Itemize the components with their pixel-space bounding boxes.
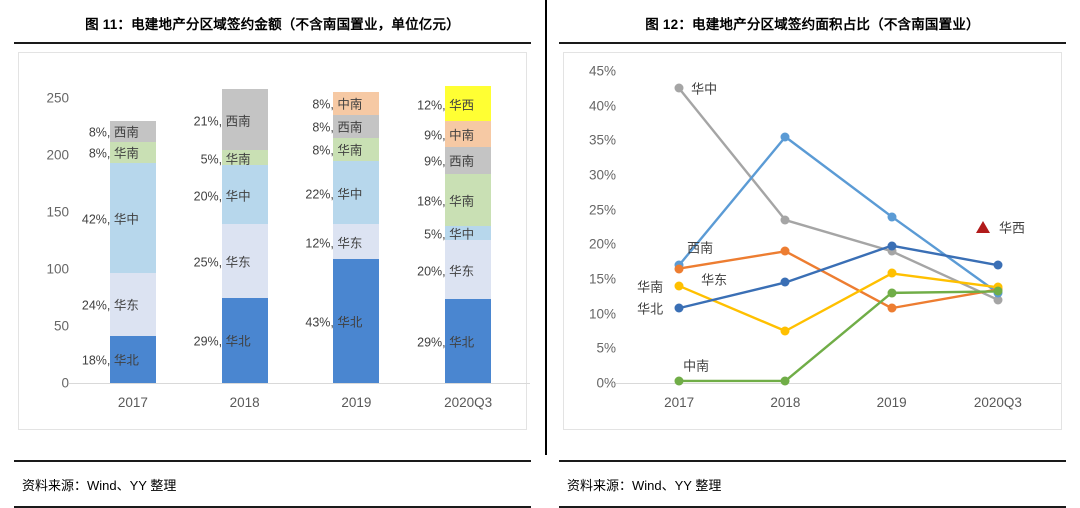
bar-segment-label: 8%, 西南 bbox=[312, 117, 362, 136]
bar-y-tick-label: 0 bbox=[29, 376, 69, 391]
bar-x-tick-label: 2018 bbox=[230, 395, 260, 410]
line-x-tick-label: 2017 bbox=[664, 395, 694, 410]
line-point-华北 bbox=[887, 241, 896, 250]
line-x-tick-label: 2020Q3 bbox=[974, 395, 1022, 410]
triangle-icon bbox=[976, 221, 990, 233]
line-point-西南 bbox=[781, 132, 790, 141]
bar-segment-label: 9%, 中南 bbox=[424, 125, 474, 144]
bar-segment-label: 24%, 华东 bbox=[82, 295, 139, 314]
bar-segment-label: 29%, 华北 bbox=[417, 331, 474, 350]
figure-12-panel: 图 12：电建地产分区域签约面积占比（不含南国置业） 0%5%10%15%20%… bbox=[545, 0, 1080, 502]
bar-segment-label: 12%, 华东 bbox=[305, 232, 362, 251]
figure-11-chart: 05010015020025018%, 华北24%, 华东42%, 华中8%, … bbox=[18, 52, 527, 430]
figure-12-source: 资料来源：Wind、YY 整理 bbox=[553, 462, 1072, 506]
bar-segment-label: 20%, 华东 bbox=[417, 260, 474, 279]
line-point-华北 bbox=[993, 261, 1002, 270]
bar-segment-label: 42%, 华中 bbox=[82, 208, 139, 227]
line-point-华南 bbox=[781, 327, 790, 336]
bar-x-tick-label: 2019 bbox=[341, 395, 371, 410]
figure-12-title: 图 12：电建地产分区域签约面积占比（不含南国置业） bbox=[553, 0, 1072, 42]
bar-segment-label: 29%, 华北 bbox=[194, 331, 251, 350]
bar-x-tick-label: 2017 bbox=[118, 395, 148, 410]
line-chart-plot-area: 0%5%10%15%20%25%30%35%40%45%华中西南华东华南华北中南… bbox=[564, 53, 1061, 429]
line-path-华中 bbox=[679, 88, 998, 299]
bar-segment-label: 5%, 华南 bbox=[201, 148, 251, 167]
figure-11-source: 资料来源：Wind、YY 整理 bbox=[8, 462, 537, 506]
line-series-label-华东: 华东 bbox=[701, 269, 727, 288]
line-x-tick-label: 2018 bbox=[770, 395, 800, 410]
line-point-中南 bbox=[993, 287, 1002, 296]
figure-12-chart: 0%5%10%15%20%25%30%35%40%45%华中西南华东华南华北中南… bbox=[563, 52, 1062, 430]
line-series-label-华北: 华北 bbox=[637, 299, 663, 318]
bar-y-tick-label: 100 bbox=[29, 261, 69, 276]
bar-segment-label: 22%, 华中 bbox=[305, 183, 362, 202]
line-point-华中 bbox=[675, 84, 684, 93]
figure-11-title-rule bbox=[14, 42, 531, 44]
line-point-华东 bbox=[887, 304, 896, 313]
figure-12-title-rule bbox=[559, 42, 1066, 44]
bar-segment-label: 8%, 华南 bbox=[89, 143, 139, 162]
bar-segment-label: 12%, 华西 bbox=[417, 94, 474, 113]
line-point-西南 bbox=[887, 212, 896, 221]
bar-y-tick-label: 50 bbox=[29, 318, 69, 333]
line-x-tick-label: 2019 bbox=[877, 395, 907, 410]
line-point-中南 bbox=[781, 376, 790, 385]
line-point-中南 bbox=[675, 376, 684, 385]
bar-segment-label: 8%, 中南 bbox=[312, 94, 362, 113]
bar-segment-label: 5%, 华中 bbox=[424, 224, 474, 243]
line-series-label-华西: 华西 bbox=[999, 218, 1025, 237]
bar-segment-label: 25%, 华东 bbox=[194, 251, 251, 270]
figure-11-title: 图 11：电建地产分区域签约金额（不含南国置业，单位亿元） bbox=[8, 0, 537, 42]
bar-segment-label: 21%, 西南 bbox=[194, 110, 251, 129]
bar-x-tick-label: 2020Q3 bbox=[444, 395, 492, 410]
line-series-label-中南: 中南 bbox=[683, 355, 709, 374]
bar-segment-label: 8%, 华南 bbox=[312, 140, 362, 159]
line-point-中南 bbox=[887, 288, 896, 297]
bar-y-tick-label: 250 bbox=[29, 90, 69, 105]
line-series-label-西南: 西南 bbox=[687, 238, 713, 257]
bar-y-tick-label: 200 bbox=[29, 147, 69, 162]
line-point-华北 bbox=[781, 278, 790, 287]
bar-segment-label: 8%, 西南 bbox=[89, 122, 139, 141]
line-point-华南 bbox=[887, 269, 896, 278]
line-series-label-华南: 华南 bbox=[637, 276, 663, 295]
bar-chart-plot-area: 05010015020025018%, 华北24%, 华东42%, 华中8%, … bbox=[19, 53, 526, 429]
line-point-华东 bbox=[675, 264, 684, 273]
line-point-华北 bbox=[675, 304, 684, 313]
line-point-华东 bbox=[781, 247, 790, 256]
bar-segment-label: 43%, 华北 bbox=[305, 311, 362, 330]
bar-baseline bbox=[69, 383, 530, 384]
line-series-paths bbox=[564, 53, 1077, 429]
figure-11-panel: 图 11：电建地产分区域签约金额（不含南国置业，单位亿元） 0501001502… bbox=[0, 0, 545, 502]
line-point-华南 bbox=[675, 281, 684, 290]
line-series-label-华中: 华中 bbox=[691, 79, 717, 98]
bar-y-tick-label: 150 bbox=[29, 204, 69, 219]
bar-segment-label: 9%, 西南 bbox=[424, 151, 474, 170]
line-point-华中 bbox=[781, 216, 790, 225]
bar-segment-label: 20%, 华中 bbox=[194, 185, 251, 204]
line-path-中南 bbox=[679, 291, 998, 380]
bar-segment-label: 18%, 华北 bbox=[82, 350, 139, 369]
figure-pair-page: 图 11：电建地产分区域签约金额（不含南国置业，单位亿元） 0501001502… bbox=[0, 0, 1080, 502]
bar-segment-label: 18%, 华南 bbox=[417, 190, 474, 209]
